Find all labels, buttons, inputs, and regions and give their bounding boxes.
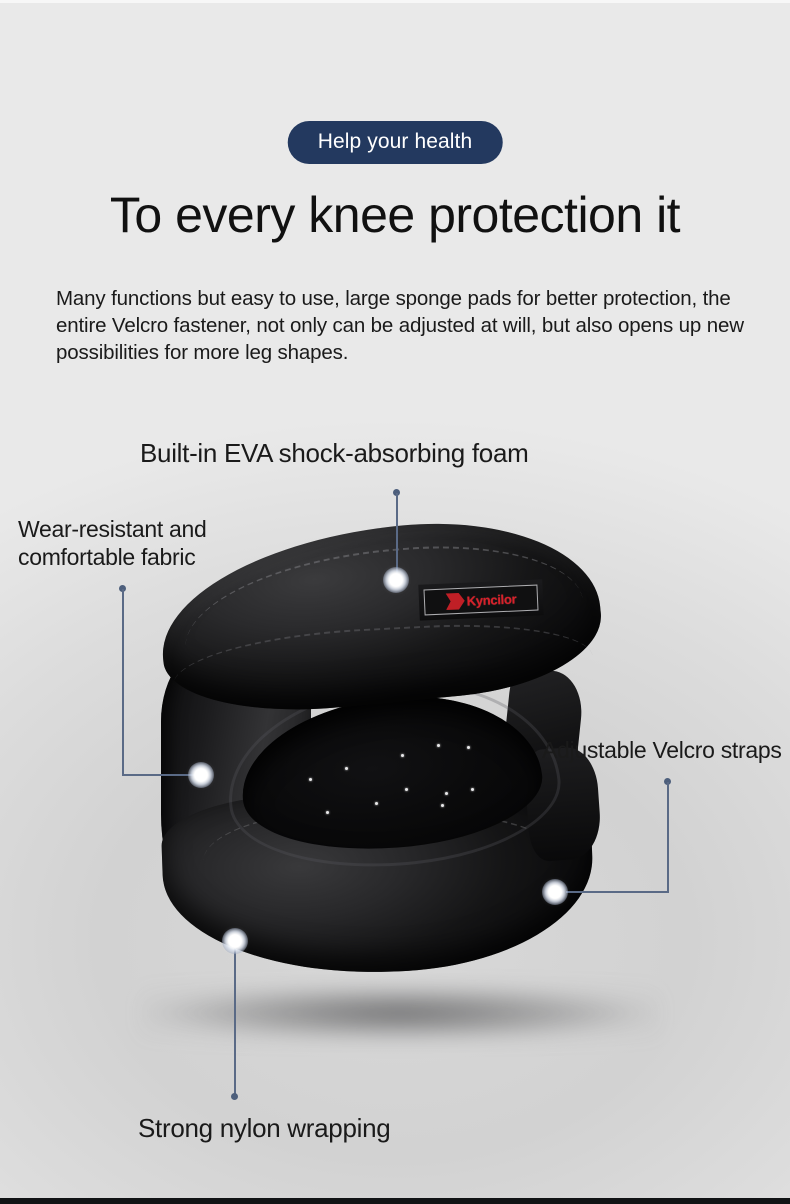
ventilation-hole <box>309 778 312 781</box>
top-edge-hairline <box>0 0 790 3</box>
ventilation-hole <box>405 788 408 791</box>
kyncilor-logo-icon <box>445 592 465 610</box>
connector-endpoint-dot <box>231 1093 238 1100</box>
ventilation-hole <box>345 767 348 770</box>
ventilation-hole <box>471 788 474 791</box>
ventilation-hole <box>467 746 470 749</box>
page-title: To every knee protection it <box>0 186 790 244</box>
callout-label-velcro-straps: Adjustable Velcro straps <box>542 735 782 766</box>
connector-line-vertical <box>122 589 124 775</box>
connector-endpoint-dot <box>119 585 126 592</box>
brand-name-text: Kyncilor <box>466 592 516 607</box>
brand-label-tag: Kyncilor <box>418 579 543 620</box>
product-drop-shadow <box>140 985 660 1041</box>
marker-dot-velcro-straps <box>542 879 568 905</box>
help-your-health-badge: Help your health <box>288 121 503 164</box>
marker-dot-fabric <box>188 762 214 788</box>
ventilation-hole <box>437 744 440 747</box>
connector-endpoint-dot <box>664 778 671 785</box>
marker-dot-nylon <box>222 928 248 954</box>
connector-line-vertical <box>667 782 669 892</box>
callout-label-fabric: Wear-resistant and comfortable fabric <box>18 515 206 571</box>
brand-label-inner: Kyncilor <box>423 585 538 616</box>
intro-paragraph: Many functions but easy to use, large sp… <box>56 285 766 366</box>
ventilation-hole <box>445 792 448 795</box>
bottom-edge-bar <box>0 1198 790 1204</box>
marker-dot-eva-foam <box>383 567 409 593</box>
ventilation-hole <box>401 754 404 757</box>
ventilation-hole <box>441 804 444 807</box>
product-infographic-page: Help your health To every knee protectio… <box>0 0 790 1204</box>
ventilation-hole <box>375 802 378 805</box>
ventilation-hole <box>326 811 329 814</box>
connector-endpoint-dot <box>393 489 400 496</box>
callout-label-eva-foam: Built-in EVA shock-absorbing foam <box>140 438 528 469</box>
callout-label-nylon: Strong nylon wrapping <box>138 1113 390 1144</box>
